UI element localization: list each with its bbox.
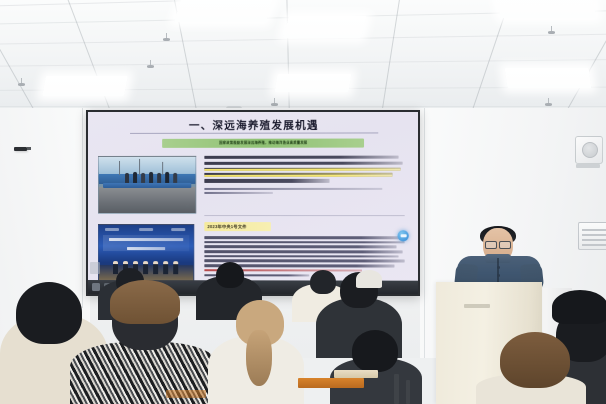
ceiling <box>0 0 606 112</box>
speaker-grille <box>576 164 600 168</box>
ceiling-grid-line <box>0 106 606 107</box>
eyeglasses-icon <box>485 241 511 247</box>
desk-edge <box>298 378 364 388</box>
text-line <box>204 179 329 182</box>
slide-photo-aquaculture-platform <box>98 156 196 214</box>
text-line <box>204 156 398 160</box>
photo-figure <box>173 261 178 274</box>
cloud-badge-icon <box>398 230 409 241</box>
photo-banner-logo <box>171 228 185 231</box>
audience-member-hat <box>500 332 570 388</box>
photo-banner-line <box>127 247 165 250</box>
slide-corner-marker <box>90 262 100 274</box>
slide-separator <box>204 215 404 216</box>
sprinkler-head <box>548 26 555 35</box>
text-line <box>204 161 402 165</box>
sprinkler-head <box>545 98 552 107</box>
slide-body-paragraph <box>204 156 406 196</box>
slide-section-heading: 2023年中央1号文件 <box>204 222 271 231</box>
audience-member-head <box>16 282 82 344</box>
ceiling-light-panel <box>42 76 128 96</box>
speaker-cone-icon <box>582 142 598 158</box>
shirt-button <box>497 266 500 269</box>
text-line <box>204 236 400 239</box>
text-line-highlighted <box>204 173 392 177</box>
chair-leg <box>406 380 410 404</box>
ceiling-light-panel <box>496 0 597 18</box>
audience-beanie-hat <box>110 280 180 324</box>
text-line <box>204 250 402 253</box>
photo-railing <box>103 183 191 188</box>
sprinkler-head <box>163 33 170 42</box>
desk-edge <box>166 390 206 398</box>
audience-member-cap <box>356 270 382 288</box>
citation-line <box>204 192 273 194</box>
photo-mast <box>162 162 163 175</box>
projection-screen[interactable]: 一、深远海养殖发展机遇 国家政策鼓励发展深远海养殖，推动海洋渔业高质量发展 <box>86 110 420 296</box>
photo-banner-logo <box>105 228 119 231</box>
slide-green-banner: 国家政策鼓励发展深远海养殖，推动海洋渔业高质量发展 <box>162 139 364 148</box>
photo-sky <box>99 157 195 174</box>
photo-mast <box>139 159 140 175</box>
screen-surface: 一、深远海养殖发展机遇 国家政策鼓励发展深远海养殖，推动海洋渔业高质量发展 <box>88 112 418 294</box>
presentation-slide: 一、深远海养殖发展机遇 国家政策鼓励发展深远海养殖，推动海洋渔业高质量发展 <box>88 112 418 294</box>
text-line <box>204 255 398 258</box>
chair-leg <box>394 374 399 404</box>
photo-deck <box>99 187 195 213</box>
audience <box>0 274 606 404</box>
ceiling-light-panel <box>174 0 274 22</box>
ceiling-grid-line <box>373 0 403 112</box>
citation-line <box>204 188 382 190</box>
sprinkler-head <box>147 60 154 69</box>
ceiling-light-panel <box>505 68 592 88</box>
text-line-highlighted <box>204 167 400 171</box>
lecture-hall-photo: 一、深远海养殖发展机遇 国家政策鼓励发展深远海养殖，推动海洋渔业高质量发展 <box>0 0 606 404</box>
ceiling-light-panel <box>275 74 352 92</box>
wall-sensor <box>14 147 27 151</box>
desk-surface <box>334 370 378 378</box>
audience-spiky-hair <box>552 290 606 324</box>
ceiling-light-panel <box>283 16 367 38</box>
title-underline <box>130 132 378 133</box>
audience-ponytail <box>246 330 272 386</box>
photo-figure <box>153 261 158 274</box>
audience-member-far <box>310 270 336 294</box>
photo-figure <box>143 261 148 274</box>
slide-title: 一、深远海养殖发展机遇 <box>88 117 418 133</box>
sprinkler-head <box>271 98 278 107</box>
audience-member-far <box>216 262 244 288</box>
air-conditioner-vent <box>578 222 606 250</box>
sprinkler-head <box>18 78 25 87</box>
audience-member-head <box>352 330 398 372</box>
photo-banner-line <box>109 238 183 241</box>
text-line <box>204 241 404 244</box>
section-heading-text: 2023年中央1号文件 <box>207 224 246 230</box>
wall-speaker <box>575 136 603 164</box>
green-banner-text: 国家政策鼓励发展深远海养殖，推动海洋渔业高质量发展 <box>219 141 307 146</box>
photo-figure <box>113 261 118 274</box>
text-line <box>204 246 396 249</box>
photo-figure <box>163 261 168 274</box>
photo-banner-logo <box>139 228 153 231</box>
photo-mast <box>119 161 120 175</box>
